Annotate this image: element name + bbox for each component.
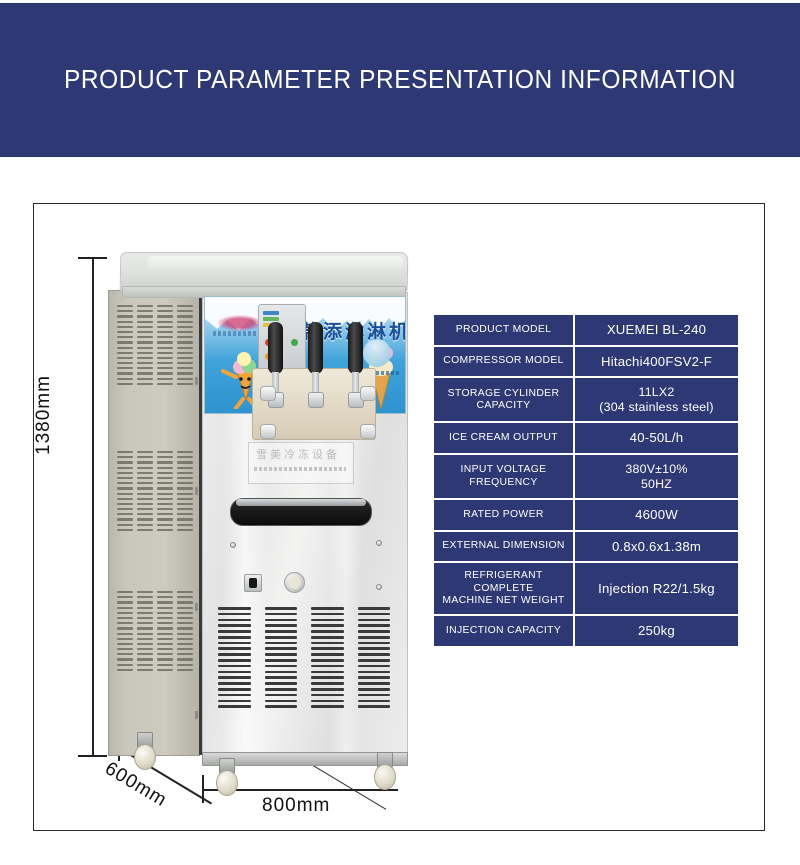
vent-slot xyxy=(157,336,173,338)
vent-column xyxy=(117,451,133,531)
vent-slot xyxy=(137,643,153,645)
vent-slot xyxy=(157,310,173,312)
front-vent-slot xyxy=(358,676,391,679)
vent-slot xyxy=(157,367,173,369)
vent-slot xyxy=(157,669,173,671)
spec-label-cell: STORAGE CYLINDERCAPACITY xyxy=(434,378,575,423)
spec-table-row: EXTERNAL DIMENSION0.8x0.6x1.38m xyxy=(434,532,738,564)
vent-slot xyxy=(117,367,133,369)
spec-label-cell: ICE CREAM OUTPUT xyxy=(434,423,575,455)
vent-slot xyxy=(137,658,153,660)
vent-slot xyxy=(117,341,133,343)
vent-slot xyxy=(157,305,173,307)
front-vent-slot xyxy=(358,659,391,662)
vent-column xyxy=(177,451,193,531)
dispensing-lever-left[interactable] xyxy=(268,322,283,374)
front-vent-slot xyxy=(218,607,251,610)
vent-slot xyxy=(137,648,153,650)
front-vent-column xyxy=(265,607,298,711)
vent-slot xyxy=(157,503,173,505)
panel-seal-badge-icon xyxy=(363,339,391,367)
front-vent-slot xyxy=(218,636,251,639)
dispenser-knob-bottom-right[interactable] xyxy=(360,424,376,439)
product-specification-table: PRODUCT MODELXUEMEI BL-240COMPRESSOR MOD… xyxy=(434,315,738,646)
vent-slot xyxy=(117,336,133,338)
dispensing-lever-right[interactable] xyxy=(348,322,363,374)
brand-plate-subtext-blur xyxy=(254,467,346,471)
front-vent-slot xyxy=(265,613,298,616)
front-vent-slot xyxy=(218,642,251,645)
vent-slot xyxy=(117,383,133,385)
front-vent-slot xyxy=(311,705,344,708)
front-vent-slot xyxy=(311,619,344,622)
spec-table-row: PRODUCT MODELXUEMEI BL-240 xyxy=(434,315,738,347)
caster-wheel-icon xyxy=(216,770,238,796)
vent-slot xyxy=(137,336,153,338)
vent-slot xyxy=(157,493,173,495)
product-photo-ice-cream-machine: 色款添淋淋机 xyxy=(108,252,408,772)
front-vent-slot xyxy=(265,671,298,674)
front-vent-slot xyxy=(265,688,298,691)
vent-slot xyxy=(137,617,153,619)
vent-slot xyxy=(157,648,173,650)
front-vent-slot xyxy=(218,688,251,691)
spec-value-cell: 4600W xyxy=(575,500,738,532)
vent-slot xyxy=(117,508,133,510)
vent-slot xyxy=(177,607,193,609)
width-dimension-label: 800mm xyxy=(262,795,330,817)
vent-slot xyxy=(117,643,133,645)
front-vent-slot xyxy=(265,705,298,708)
vent-slot xyxy=(117,472,133,474)
front-vent-column xyxy=(311,607,344,711)
vent-slot xyxy=(137,653,153,655)
front-vent-slot xyxy=(311,694,344,697)
vent-slot xyxy=(177,643,193,645)
vent-slot xyxy=(137,596,153,598)
vent-slot xyxy=(117,331,133,333)
caster-wheel-icon xyxy=(134,744,156,770)
front-vent-slot xyxy=(218,671,251,674)
vent-slot xyxy=(157,643,173,645)
vent-slot xyxy=(137,482,153,484)
vent-slot xyxy=(137,513,153,515)
vent-slot xyxy=(117,493,133,495)
vent-slot xyxy=(177,601,193,603)
front-vent-slot xyxy=(358,613,391,616)
rotary-switch-knob-icon[interactable] xyxy=(249,578,257,588)
vent-slot xyxy=(137,451,153,453)
vent-slot xyxy=(157,653,173,655)
spec-label-cell: INJECTION CAPACITY xyxy=(434,616,575,646)
vent-slot xyxy=(157,315,173,317)
vent-slot xyxy=(177,362,193,364)
spec-value-cell: 380V±10%50HZ xyxy=(575,455,738,500)
vent-slot xyxy=(117,658,133,660)
vent-slot xyxy=(157,326,173,328)
vent-slot xyxy=(117,482,133,484)
vent-slot xyxy=(137,357,153,359)
page-title: PRODUCT PARAMETER PRESENTATION INFORMATI… xyxy=(64,66,736,95)
vent-slot xyxy=(137,331,153,333)
vent-slot xyxy=(137,467,153,469)
front-vent-slot xyxy=(265,630,298,633)
front-vent-slot xyxy=(218,700,251,703)
vent-slot xyxy=(137,372,153,374)
vent-slot xyxy=(157,477,173,479)
spec-label-cell: EXTERNAL DIMENSION xyxy=(434,532,575,564)
vent-slot xyxy=(137,518,153,520)
vent-slot xyxy=(177,648,193,650)
vent-column xyxy=(157,591,173,671)
vent-slot xyxy=(117,529,133,531)
front-vent-slot xyxy=(311,624,344,627)
front-vent-slot xyxy=(311,647,344,650)
front-vent-slot xyxy=(265,682,298,685)
brand-plate-chinese-text: 雪美冷冻设备 xyxy=(256,446,340,462)
vent-slot xyxy=(117,315,133,317)
vent-slot xyxy=(137,461,153,463)
spec-value-cell: Injection R22/1.5kg xyxy=(575,563,738,616)
vent-slot xyxy=(177,357,193,359)
dispenser-knob-top-left[interactable] xyxy=(260,386,276,401)
vent-slot xyxy=(117,638,133,640)
spec-table-row: RATED POWER4600W xyxy=(434,500,738,532)
vent-slot xyxy=(117,321,133,323)
dispensing-lever-center[interactable] xyxy=(308,322,323,374)
spec-table-row: ICE CREAM OUTPUT40-50L/h xyxy=(434,423,738,455)
vent-slot xyxy=(157,482,173,484)
caster-wheel-rear-left xyxy=(134,732,156,770)
front-vent-slot xyxy=(265,653,298,656)
front-vent-slot xyxy=(311,659,344,662)
vent-slot xyxy=(157,601,173,603)
side-panel-screw xyxy=(195,711,198,719)
vent-slot xyxy=(157,498,173,500)
side-panel-screw xyxy=(195,377,198,385)
vent-slot xyxy=(117,513,133,515)
front-panel-screw xyxy=(376,584,382,590)
vent-slot xyxy=(157,472,173,474)
vent-slot xyxy=(117,617,133,619)
vent-slot xyxy=(137,341,153,343)
front-vent-slot xyxy=(265,642,298,645)
vent-slot xyxy=(137,633,153,635)
spec-label-cell: COMPRESSOR MODEL xyxy=(434,347,575,379)
dispenser-knob-top-right[interactable] xyxy=(360,386,376,401)
vent-slot xyxy=(137,664,153,666)
vent-slot xyxy=(177,336,193,338)
vent-slot xyxy=(177,627,193,629)
caster-wheel-front-left xyxy=(216,758,238,796)
front-vent-slot xyxy=(358,671,391,674)
vent-slot xyxy=(157,591,173,593)
front-vent-slot xyxy=(311,676,344,679)
vent-slot xyxy=(157,372,173,374)
front-vent-slot xyxy=(218,624,251,627)
vent-slot xyxy=(137,669,153,671)
vent-slot xyxy=(177,498,193,500)
vent-slot xyxy=(177,331,193,333)
vent-slot xyxy=(177,633,193,635)
vent-slot xyxy=(137,498,153,500)
vent-column xyxy=(177,305,193,385)
vent-column xyxy=(157,451,173,531)
vent-slot xyxy=(177,326,193,328)
spec-label-cell: RATED POWER xyxy=(434,500,575,532)
side-vent-group-bottom xyxy=(117,591,193,671)
vent-slot xyxy=(157,658,173,660)
vent-slot xyxy=(117,607,133,609)
front-vent-slot xyxy=(265,624,298,627)
vent-slot xyxy=(117,362,133,364)
vent-slot xyxy=(137,378,153,380)
lid-highlight xyxy=(147,256,403,270)
vent-slot xyxy=(177,529,193,531)
front-vent-slot xyxy=(265,619,298,622)
vent-slot xyxy=(177,596,193,598)
vent-slot xyxy=(157,347,173,349)
vent-slot xyxy=(157,508,173,510)
vent-slot xyxy=(117,372,133,374)
spec-table-row: INJECTION CAPACITY250kg xyxy=(434,616,738,646)
front-vent-slot xyxy=(358,607,391,610)
front-vent-slot xyxy=(265,700,298,703)
vent-slot xyxy=(137,326,153,328)
vent-slot xyxy=(137,638,153,640)
spec-value-cell: 11LX2(304 stainless steel) xyxy=(575,378,738,423)
front-vent-slot xyxy=(311,665,344,668)
vent-slot xyxy=(177,315,193,317)
vent-slot xyxy=(117,596,133,598)
front-vent-slot xyxy=(218,619,251,622)
front-vent-slot xyxy=(265,665,298,668)
front-vent-grille xyxy=(218,607,390,711)
vent-slot xyxy=(137,456,153,458)
vent-slot xyxy=(177,451,193,453)
front-vent-column xyxy=(218,607,251,711)
front-vent-slot xyxy=(311,700,344,703)
vent-slot xyxy=(137,591,153,593)
front-vent-slot xyxy=(358,705,391,708)
spec-table-row: INPUT VOLTAGEFREQUENCY380V±10%50HZ xyxy=(434,455,738,500)
front-vent-slot xyxy=(311,613,344,616)
vent-slot xyxy=(177,321,193,323)
control-stripe-blue xyxy=(263,311,279,315)
front-vent-slot xyxy=(358,653,391,656)
front-vent-slot xyxy=(358,682,391,685)
vent-column xyxy=(117,305,133,385)
vent-slot xyxy=(157,383,173,385)
vent-slot xyxy=(137,383,153,385)
vent-slot xyxy=(157,321,173,323)
vent-slot xyxy=(117,326,133,328)
vent-column xyxy=(157,305,173,385)
side-panel-screw xyxy=(195,603,198,611)
spec-value-cell: Hitachi400FSV2-F xyxy=(575,347,738,379)
front-vent-slot xyxy=(358,688,391,691)
front-vent-slot xyxy=(358,647,391,650)
vent-slot xyxy=(117,648,133,650)
spec-value-cell: 0.8x0.6x1.38m xyxy=(575,532,738,564)
vent-slot xyxy=(177,653,193,655)
front-vent-slot xyxy=(311,607,344,610)
front-vent-slot xyxy=(311,671,344,674)
vent-slot xyxy=(117,653,133,655)
front-vent-slot xyxy=(358,700,391,703)
vent-slot xyxy=(177,612,193,614)
front-vent-slot xyxy=(311,682,344,685)
vent-slot xyxy=(177,669,193,671)
vent-slot xyxy=(117,601,133,603)
height-dimension-cap-bottom xyxy=(78,755,107,757)
front-vent-slot xyxy=(358,630,391,633)
vent-slot xyxy=(137,508,153,510)
lever-stem-center xyxy=(312,372,319,394)
vent-column xyxy=(137,305,153,385)
vent-column xyxy=(137,451,153,531)
vent-slot xyxy=(157,596,173,598)
front-vent-slot xyxy=(311,642,344,645)
vent-slot xyxy=(157,352,173,354)
vent-slot xyxy=(177,461,193,463)
spec-table-row: REFRIGERANT COMPLETEMACHINE NET WEIGHTIn… xyxy=(434,563,738,616)
vent-slot xyxy=(117,524,133,526)
page-header-band: PRODUCT PARAMETER PRESENTATION INFORMATI… xyxy=(0,3,800,157)
vent-slot xyxy=(117,503,133,505)
vent-slot xyxy=(177,472,193,474)
vent-slot xyxy=(137,601,153,603)
vent-slot xyxy=(157,461,173,463)
vent-slot xyxy=(137,607,153,609)
vent-slot xyxy=(177,456,193,458)
vent-slot xyxy=(117,633,133,635)
front-vent-slot xyxy=(218,694,251,697)
vent-slot xyxy=(177,503,193,505)
vent-slot xyxy=(117,357,133,359)
vent-slot xyxy=(117,305,133,307)
front-vent-slot xyxy=(218,647,251,650)
vent-slot xyxy=(157,638,173,640)
vent-slot xyxy=(117,664,133,666)
front-vent-slot xyxy=(358,624,391,627)
front-vent-slot xyxy=(218,653,251,656)
dispenser-knob-bottom-left[interactable] xyxy=(260,424,276,439)
vent-slot xyxy=(117,622,133,624)
front-panel-screw xyxy=(376,540,382,546)
vent-slot xyxy=(177,477,193,479)
vent-slot xyxy=(177,591,193,593)
vent-slot xyxy=(177,482,193,484)
dispenser-nozzle-center xyxy=(308,392,324,408)
vent-slot xyxy=(157,487,173,489)
drip-tray-lip xyxy=(236,499,366,506)
vent-column xyxy=(137,591,153,671)
vent-slot xyxy=(137,612,153,614)
vent-slot xyxy=(157,513,173,515)
vent-slot xyxy=(177,658,193,660)
control-stripe-green xyxy=(263,317,279,321)
front-vent-slot xyxy=(218,659,251,662)
vent-slot xyxy=(117,456,133,458)
caster-wheel-front-right xyxy=(374,752,396,790)
vent-slot xyxy=(137,321,153,323)
height-dimension-line xyxy=(92,258,94,757)
front-vent-slot xyxy=(358,636,391,639)
vent-slot xyxy=(157,456,173,458)
front-vent-slot xyxy=(218,613,251,616)
vent-slot xyxy=(137,315,153,317)
vent-slot xyxy=(137,367,153,369)
vent-slot xyxy=(137,477,153,479)
vent-slot xyxy=(117,627,133,629)
vent-slot xyxy=(157,451,173,453)
vent-slot xyxy=(137,627,153,629)
lever-stem-right xyxy=(352,372,359,394)
vent-slot xyxy=(117,310,133,312)
vent-slot xyxy=(137,362,153,364)
vent-slot xyxy=(157,467,173,469)
vent-slot xyxy=(117,347,133,349)
front-vent-slot xyxy=(218,630,251,633)
vent-slot xyxy=(157,529,173,531)
vent-slot xyxy=(157,617,173,619)
vent-slot xyxy=(137,352,153,354)
vent-slot xyxy=(117,591,133,593)
vent-slot xyxy=(157,524,173,526)
indicator-led-green xyxy=(291,339,298,346)
vent-slot xyxy=(137,472,153,474)
front-vent-slot xyxy=(358,694,391,697)
machine-side-panel xyxy=(108,290,200,756)
vent-slot xyxy=(117,487,133,489)
caster-wheel-icon xyxy=(374,764,396,790)
vent-slot xyxy=(137,310,153,312)
vent-slot xyxy=(177,622,193,624)
pressure-gauge-face xyxy=(288,576,301,589)
front-vent-slot xyxy=(218,705,251,708)
brand-logo-icon xyxy=(217,315,263,331)
vent-slot xyxy=(117,352,133,354)
vent-slot xyxy=(137,529,153,531)
vent-slot xyxy=(117,498,133,500)
vent-slot xyxy=(117,612,133,614)
vent-slot xyxy=(137,305,153,307)
vent-slot xyxy=(117,477,133,479)
vent-slot xyxy=(177,352,193,354)
spec-label-cell: REFRIGERANT COMPLETEMACHINE NET WEIGHT xyxy=(434,563,575,616)
side-panel-screw xyxy=(195,487,198,495)
vent-slot xyxy=(157,378,173,380)
vent-slot xyxy=(117,461,133,463)
spec-table-body: PRODUCT MODELXUEMEI BL-240COMPRESSOR MOD… xyxy=(434,315,738,646)
front-vent-slot xyxy=(265,694,298,697)
front-vent-slot xyxy=(358,642,391,645)
front-vent-slot xyxy=(311,688,344,691)
front-panel-screw xyxy=(230,542,236,548)
vent-slot xyxy=(157,331,173,333)
spec-value-cell: 250kg xyxy=(575,616,738,646)
vent-slot xyxy=(177,347,193,349)
spec-table-row: COMPRESSOR MODELHitachi400FSV2-F xyxy=(434,347,738,379)
vent-slot xyxy=(157,633,173,635)
vent-slot xyxy=(177,638,193,640)
front-vent-column xyxy=(358,607,391,711)
vent-slot xyxy=(157,664,173,666)
spec-value-cell: XUEMEI BL-240 xyxy=(575,315,738,347)
vent-column xyxy=(177,591,193,671)
front-vent-slot xyxy=(265,659,298,662)
